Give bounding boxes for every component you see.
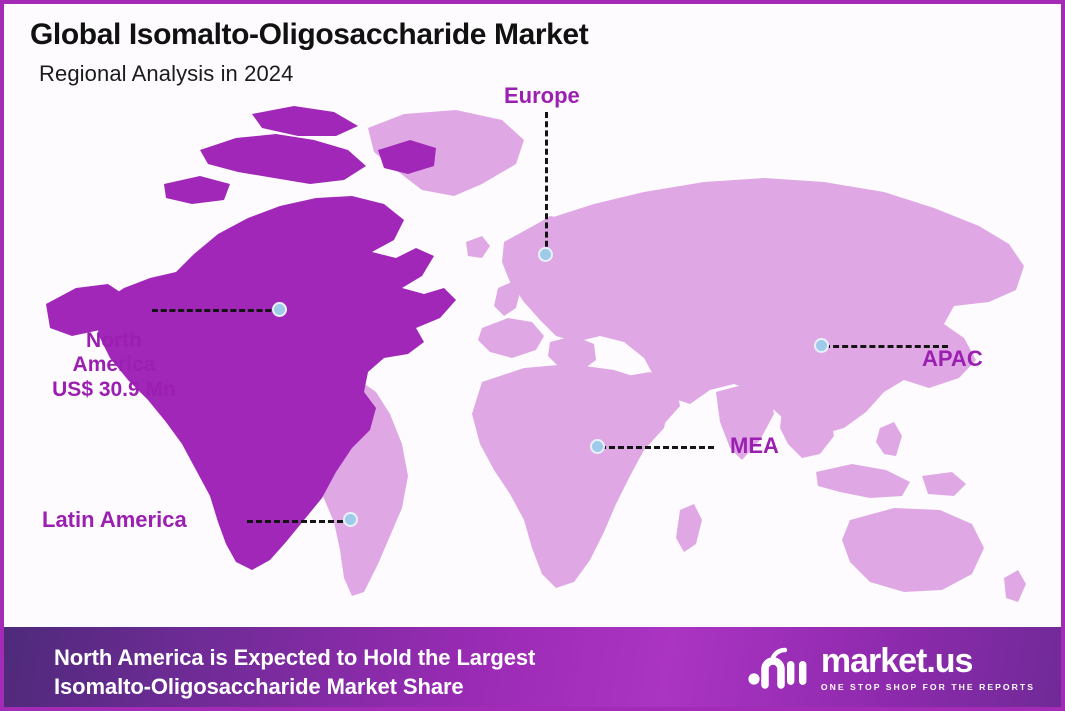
connector-europe xyxy=(545,112,548,256)
banner-headline: North America is Expected to Hold the La… xyxy=(54,643,535,701)
map-marker-europe[interactable] xyxy=(538,247,553,262)
footer-banner: North America is Expected to Hold the La… xyxy=(4,627,1065,711)
logo-tagline: ONE STOP SHOP FOR THE REPORTS xyxy=(821,682,1035,692)
market-us-logo-icon xyxy=(748,643,810,693)
connector-latin-america xyxy=(247,520,352,523)
connector-north-america xyxy=(152,309,280,312)
logo-wordmark: market.us xyxy=(821,644,1035,678)
region-label-europe: Europe xyxy=(504,83,580,109)
map-marker-north-america[interactable] xyxy=(272,302,287,317)
region-label-apac: APAC xyxy=(922,346,983,372)
map-marker-mea[interactable] xyxy=(590,439,605,454)
infographic-card: Global Isomalto-Oligosaccharide Market R… xyxy=(0,0,1065,711)
map-marker-apac[interactable] xyxy=(814,338,829,353)
region-label-north-america: North America US$ 30.9 Mn xyxy=(26,329,202,402)
region-label-latin-america: Latin America xyxy=(42,507,187,533)
map-marker-latin-america[interactable] xyxy=(343,512,358,527)
connector-mea xyxy=(600,446,714,449)
page-subtitle: Regional Analysis in 2024 xyxy=(39,61,293,87)
market-us-logo[interactable]: market.us ONE STOP SHOP FOR THE REPORTS xyxy=(748,643,1035,693)
page-title: Global Isomalto-Oligosaccharide Market xyxy=(30,18,588,52)
region-label-mea: MEA xyxy=(730,433,779,459)
